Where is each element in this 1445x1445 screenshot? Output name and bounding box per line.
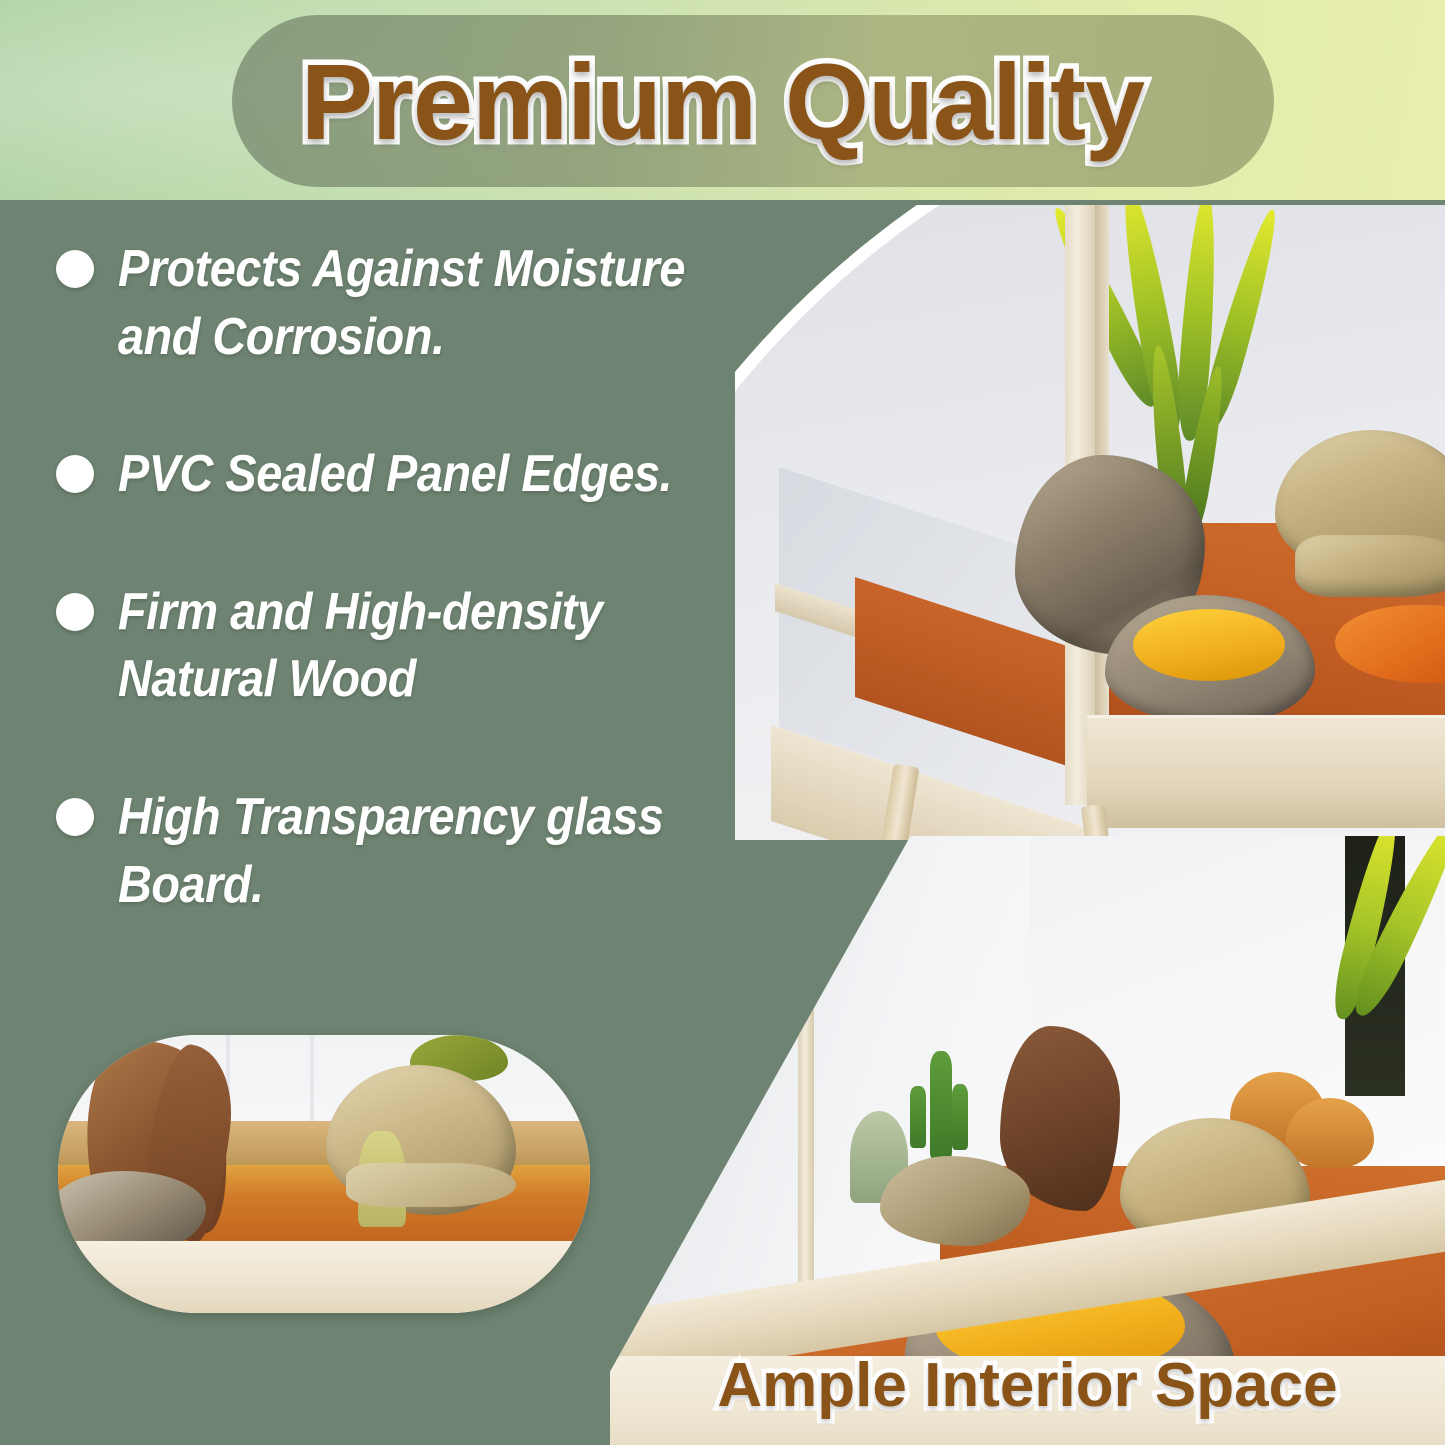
rock-decor [880, 1156, 1030, 1246]
page-title: Premium Quality [0, 0, 1445, 203]
photo-caption: Ample Interior Space [610, 1335, 1445, 1435]
wood-base-front [58, 1241, 590, 1313]
feature-label: High Transparency glass Board. [118, 784, 692, 919]
product-photo-inset-oval [58, 1035, 590, 1313]
water-bowl-interior [1133, 609, 1285, 681]
header-banner: Premium Quality [0, 0, 1445, 203]
feature-label: PVC Sealed Panel Edges. [118, 441, 672, 509]
bullet-dot-icon [56, 250, 94, 288]
feature-label: Protects Against Moisture and Corrosion. [118, 236, 692, 371]
glass-seam [310, 1035, 314, 1127]
bullet-dot-icon [56, 798, 94, 836]
feature-label: Firm and High-density Natural Wood [118, 579, 692, 714]
rock-hide-decor [58, 1171, 206, 1251]
bullet-dot-icon [56, 593, 94, 631]
product-infographic: Premium Quality Protects Against Moistur… [0, 0, 1445, 1445]
wood-base-front [1087, 715, 1445, 828]
feature-list: Protects Against Moisture and Corrosion.… [56, 236, 756, 989]
bullet-dot-icon [56, 455, 94, 493]
dinosaur-jaw-decor [1295, 535, 1445, 597]
list-item: High Transparency glass Board. [56, 784, 756, 919]
list-item: PVC Sealed Panel Edges. [56, 441, 756, 509]
dinosaur-jaw-decor [346, 1163, 516, 1207]
cactus-decor [910, 1086, 926, 1148]
cactus-decor [930, 1051, 952, 1161]
cactus-decor [952, 1084, 968, 1150]
list-item: Firm and High-density Natural Wood [56, 579, 756, 714]
photo-arc-content [735, 205, 1445, 840]
product-photo-top-right [735, 205, 1445, 840]
list-item: Protects Against Moisture and Corrosion. [56, 236, 756, 371]
